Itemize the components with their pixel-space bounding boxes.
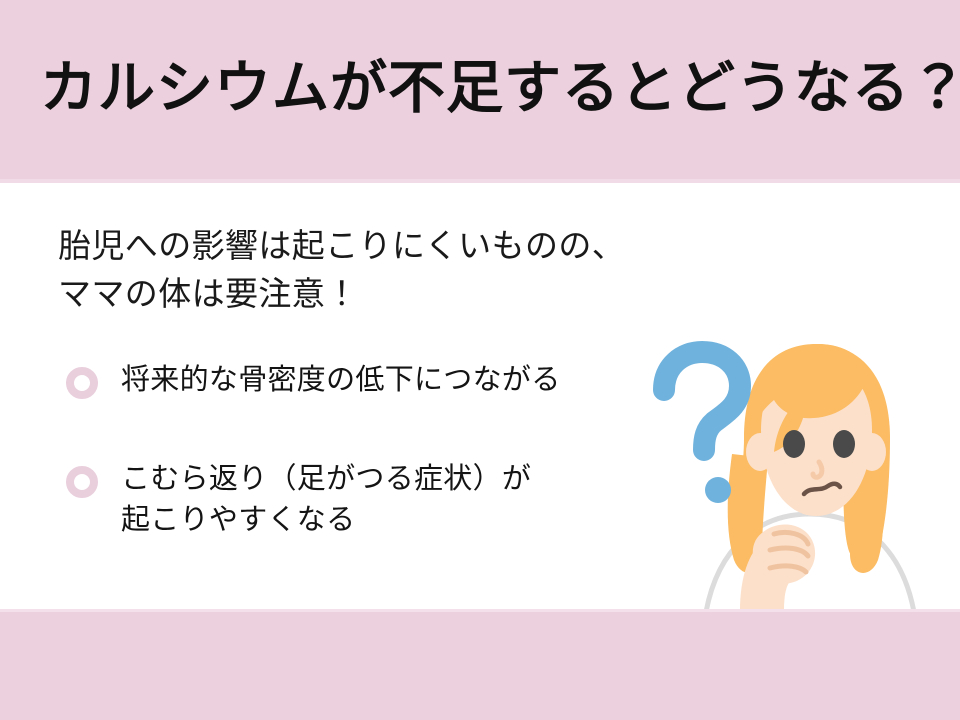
list-item-line: こむら返り（足がつる症状）が <box>121 459 531 500</box>
bullet-list: 将来的な骨密度の低下につながる こむら返り（足がつる症状）が 起こりやすくなる <box>66 360 706 600</box>
list-item-line: 将来的な骨密度の低下につながる <box>121 360 561 401</box>
ring-bullet-icon <box>66 367 98 399</box>
list-item: こむら返り（足がつる症状）が 起こりやすくなる <box>66 459 706 541</box>
page-title: カルシウムが不足するとどうなる？ <box>40 57 930 121</box>
list-item: 将来的な骨密度の低下につながる <box>66 360 706 401</box>
slide-canvas: カルシウムが不足するとどうなる？ 胎児への影響は起こりにくいものの、 ママの体は… <box>0 0 960 720</box>
list-item-line: 起こりやすくなる <box>121 500 531 541</box>
subtitle-block: 胎児への影響は起こりにくいものの、 ママの体は要注意！ <box>58 222 758 318</box>
list-item-text: 将来的な骨密度の低下につながる <box>121 360 561 401</box>
ring-bullet-icon <box>66 466 98 498</box>
thinking-woman-illustration <box>648 334 960 612</box>
list-item-text: こむら返り（足がつる症状）が 起こりやすくなる <box>121 459 531 541</box>
top-banner-edge <box>0 179 960 183</box>
bottom-banner-band <box>0 612 960 720</box>
question-mark-icon <box>664 352 740 503</box>
subtitle-line-1: 胎児への影響は起こりにくいものの、 <box>58 222 758 270</box>
subtitle-line-2: ママの体は要注意！ <box>58 270 758 318</box>
